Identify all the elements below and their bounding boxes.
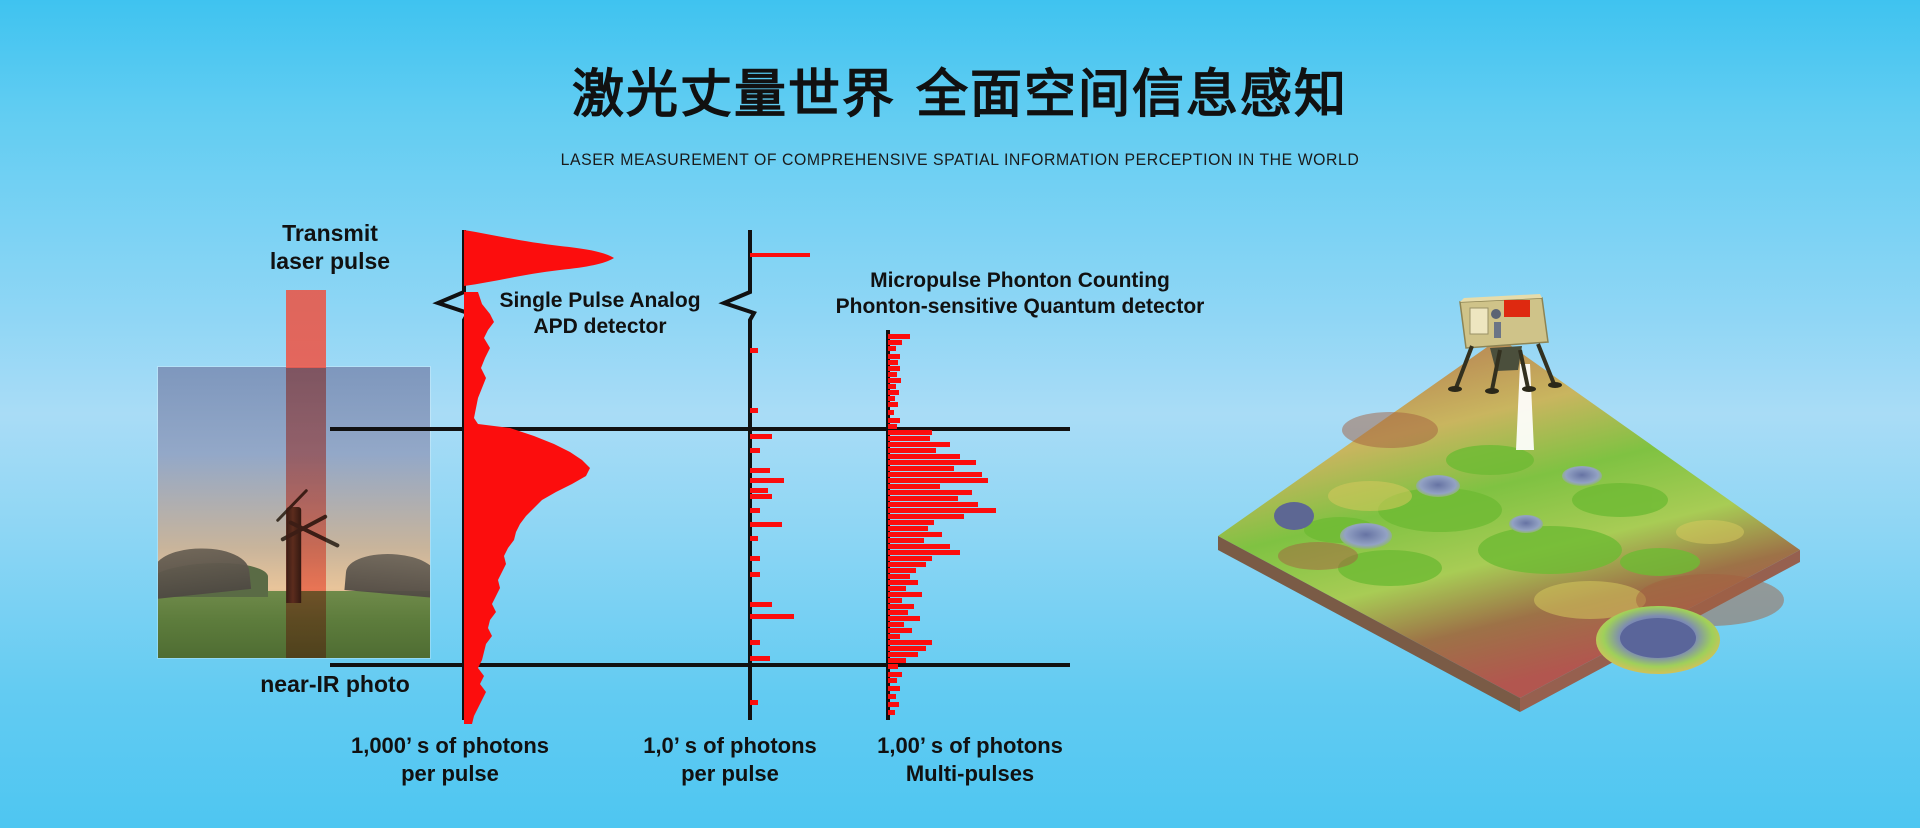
- panel3-histogram-bar: [888, 402, 898, 407]
- panel3-histogram-bar: [888, 568, 916, 573]
- panel3-histogram-bar: [888, 652, 918, 657]
- panel3-histogram-bar: [888, 672, 902, 677]
- panel2-photon-spike: [750, 478, 784, 483]
- panel3-histogram-bar: [888, 346, 896, 351]
- page-title: 激光丈量世界 全面空间信息感知: [0, 52, 1920, 127]
- panel2-photon-spike: [750, 572, 760, 577]
- panel3-histogram-bar: [888, 390, 899, 395]
- lander-flag: [1504, 300, 1530, 317]
- terrain-crater: [1509, 515, 1543, 533]
- panel3-histogram-bar: [888, 604, 914, 609]
- terrain-crater: [1340, 523, 1392, 549]
- panel3-histogram-bar: [888, 496, 958, 501]
- label-micropulse-photon-counting: Micropulse Phonton Counting Phonton-sens…: [790, 268, 1250, 319]
- panel3-histogram-bar: [888, 384, 896, 389]
- panel3-histogram-bar: [888, 442, 950, 447]
- panel3-histogram-bar: [888, 610, 908, 615]
- panel3-histogram-bar: [888, 354, 900, 359]
- panel3-histogram-bar: [888, 454, 960, 459]
- panel2-photon-spike: [750, 408, 758, 413]
- caption-panel2: 1,0’ s of photons per pulse: [590, 732, 870, 787]
- panel3-histogram-bar: [888, 378, 901, 383]
- lander-panel: [1470, 308, 1488, 334]
- reference-line-ground: [330, 663, 1070, 667]
- panel3-histogram-bar: [888, 598, 902, 603]
- panel3-histogram-bar: [888, 514, 964, 519]
- panel3-histogram-bar: [888, 702, 899, 707]
- lander-sensor: [1491, 309, 1501, 319]
- caption-panel3: 1,00’ s of photons Multi-pulses: [830, 732, 1110, 787]
- panel2-axis-break-zigzag: [716, 286, 760, 326]
- panel1-return-waveform: [464, 292, 644, 724]
- panel3-histogram-bar: [888, 448, 936, 453]
- panel3-histogram-bar: [888, 484, 940, 489]
- panel2-photon-spike: [750, 700, 758, 705]
- poster-canvas: 激光丈量世界 全面空间信息感知 LASER MEASUREMENT OF COM…: [0, 0, 1920, 828]
- lidar-terrain-model: [1190, 300, 1810, 720]
- panel3-histogram-bar: [888, 460, 976, 465]
- panel3-histogram-bar: [888, 634, 900, 639]
- panel3-histogram-bar: [888, 372, 897, 377]
- panel2-transmit-pulse-spike: [750, 253, 810, 257]
- panel2-photon-spike: [750, 448, 760, 453]
- panel3-histogram-bar: [888, 710, 895, 715]
- page-subtitle: LASER MEASUREMENT OF COMPREHENSIVE SPATI…: [67, 150, 1853, 170]
- panel3-histogram-bar: [888, 520, 934, 525]
- panel3-histogram-bar: [888, 472, 982, 477]
- panel3-histogram-bar: [888, 640, 932, 645]
- panel2-photon-spike: [750, 656, 770, 661]
- panel3-histogram-bar: [888, 430, 932, 435]
- panel3-histogram-bar: [888, 686, 900, 691]
- panel2-photon-spike: [750, 556, 760, 561]
- terrain-crater: [1274, 502, 1314, 530]
- panel2-photon-spike: [750, 494, 772, 499]
- panel2-photon-spike: [750, 614, 794, 619]
- panel3-histogram-bar: [888, 658, 906, 663]
- panel3-histogram-bar: [888, 436, 930, 441]
- panel2-photon-spike: [750, 602, 772, 607]
- panel3-histogram-bar: [888, 646, 926, 651]
- panel3-histogram-bar: [888, 418, 900, 423]
- panel3-histogram-bar: [888, 544, 950, 549]
- panel3-histogram-bar: [888, 664, 898, 669]
- reference-line-canopy-top: [330, 427, 1070, 431]
- panel2-photon-spike: [750, 508, 760, 513]
- terrain-crater: [1562, 466, 1602, 486]
- panel3-histogram-bar: [888, 396, 895, 401]
- panel2-photon-spike: [750, 348, 758, 353]
- panel2-photon-spike: [750, 522, 782, 527]
- label-near-ir-photo: near-IR photo: [205, 670, 465, 698]
- lander-footpads: [1448, 382, 1562, 394]
- panel3-histogram-bar: [888, 628, 912, 633]
- panel3-histogram-bar: [888, 586, 906, 591]
- panel3-histogram-bar: [888, 574, 910, 579]
- caption-panel1: 1,000’ s of photons per pulse: [300, 732, 600, 787]
- panel3-histogram-bar: [888, 532, 942, 537]
- panel3-histogram-bar: [888, 538, 924, 543]
- panel3-histogram-bar: [888, 478, 988, 483]
- panel2-photon-spike: [750, 434, 772, 439]
- panel1-transmit-pulse-waveform: [464, 230, 624, 286]
- panel3-histogram-bar: [888, 526, 928, 531]
- panel3-histogram-bar: [888, 562, 926, 567]
- panel3-histogram-bar: [888, 556, 932, 561]
- lunar-lander: [1442, 292, 1562, 402]
- panel3-histogram-bar: [888, 340, 902, 345]
- panel2-vertical-axis-upper: [748, 230, 752, 292]
- terrain-crater: [1416, 475, 1460, 497]
- panel3-histogram-bar: [888, 360, 898, 365]
- lander-sensor: [1494, 322, 1501, 338]
- panel2-photon-spike: [750, 488, 768, 493]
- panel3-histogram-bar: [888, 678, 897, 683]
- panel2-photon-spike: [750, 536, 758, 541]
- panel3-histogram-bar: [888, 580, 918, 585]
- label-transmit-laser-pulse: Transmit laser pulse: [235, 219, 425, 275]
- panel3-histogram-bar: [888, 502, 978, 507]
- panel2-photon-spike: [750, 640, 760, 645]
- panel3-histogram-bar: [888, 622, 904, 627]
- panel3-histogram-bar: [888, 550, 960, 555]
- panel3-histogram-bar: [888, 508, 996, 513]
- panel3-histogram-bar: [888, 466, 954, 471]
- panel3-histogram-bar: [888, 616, 920, 621]
- panel3-histogram-bar: [888, 592, 922, 597]
- panel3-histogram-bar: [888, 410, 894, 415]
- panel3-histogram-bar: [888, 366, 900, 371]
- panel2-photon-spike: [750, 468, 770, 473]
- panel3-histogram-bar: [888, 334, 910, 339]
- panel3-histogram-bar: [888, 424, 897, 429]
- panel3-histogram-bar: [888, 490, 972, 495]
- laser-beam-top-segment: [286, 290, 326, 368]
- panel3-histogram-bar: [888, 694, 896, 699]
